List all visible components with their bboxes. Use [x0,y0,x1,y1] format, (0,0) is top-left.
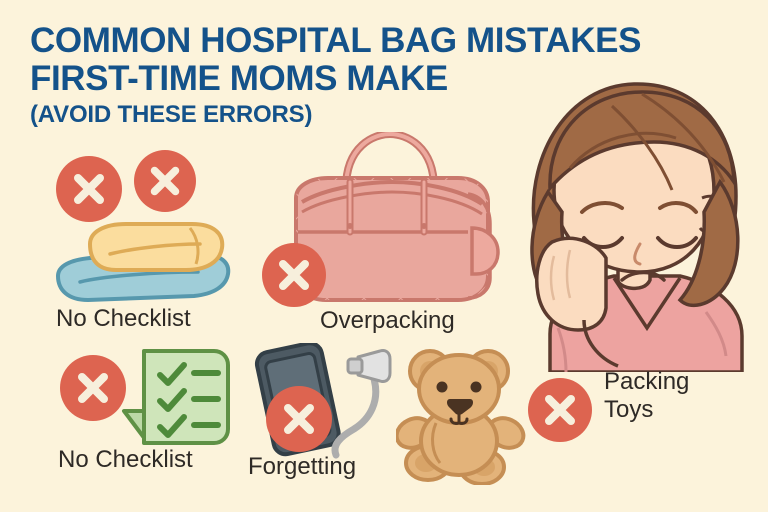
label-no-checklist-clothes: No Checklist [56,305,191,333]
x-icon [146,162,184,200]
infographic-canvas: COMMON HOSPITAL BAG MISTAKES FIRST-TIME … [0,0,768,512]
folded-clothes-illustration [32,222,242,304]
x-badge-overpacking[interactable] [262,243,326,307]
label-forgetting: Forgetting [248,453,356,481]
x-icon [73,368,113,408]
x-icon [540,390,580,430]
x-badge-forgetting[interactable] [266,386,332,452]
x-badge-no-checklist-clothes-1[interactable] [56,156,122,222]
label-packing-toys: Packing Toys [604,368,689,424]
worried-mom-illustration [492,72,768,372]
x-badge-packing-toys[interactable] [528,378,592,442]
x-icon [274,255,314,295]
x-badge-no-checklist-clipboard[interactable] [60,355,126,421]
checklist-illustration [118,345,234,449]
label-overpacking: Overpacking [320,307,455,335]
x-icon [69,169,109,209]
x-icon [279,399,319,439]
title-line-1: COMMON HOSPITAL BAG MISTAKES [30,22,730,60]
label-no-checklist-clipboard: No Checklist [58,446,193,474]
teddy-bear-illustration [396,345,526,485]
x-badge-no-checklist-clothes-2[interactable] [134,150,196,212]
